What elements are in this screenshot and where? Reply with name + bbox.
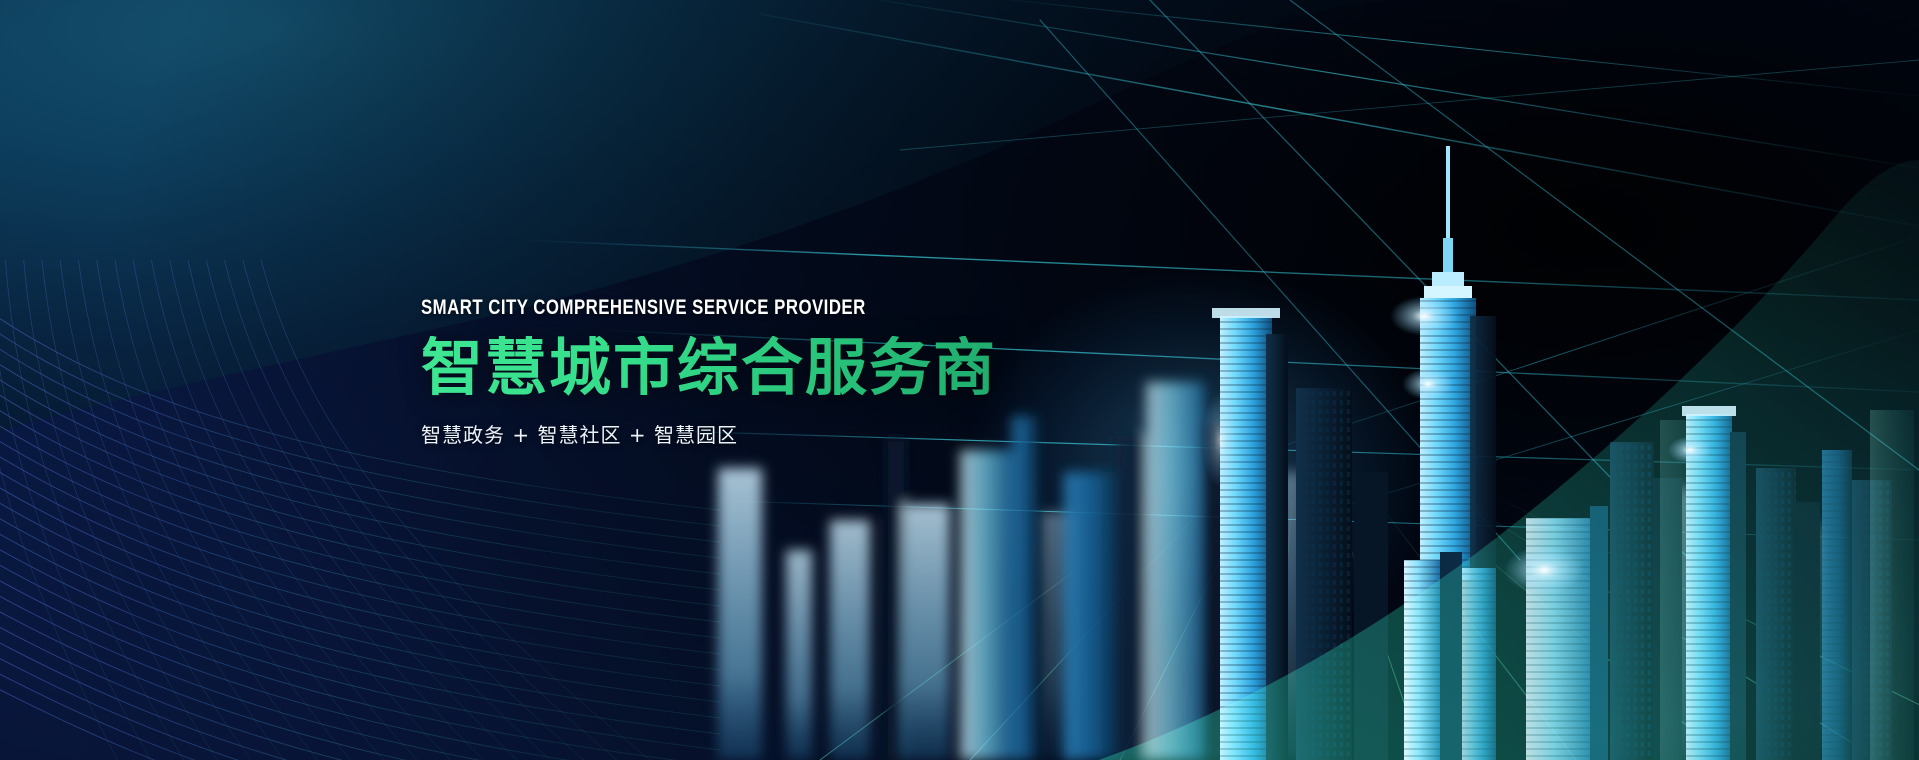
banner-copy-block: SMART CITY COMPREHENSIVE SERVICE PROVIDE… <box>421 296 1181 448</box>
banner-subline: 智慧政务 + 智慧社区 + 智慧园区 <box>421 419 1181 448</box>
smart-city-banner: SMART CITY COMPREHENSIVE SERVICE PROVIDE… <box>0 0 1919 760</box>
banner-headline: 智慧城市综合服务商 <box>421 336 1181 399</box>
banner-eyebrow-text: SMART CITY COMPREHENSIVE SERVICE PROVIDE… <box>421 296 1029 320</box>
